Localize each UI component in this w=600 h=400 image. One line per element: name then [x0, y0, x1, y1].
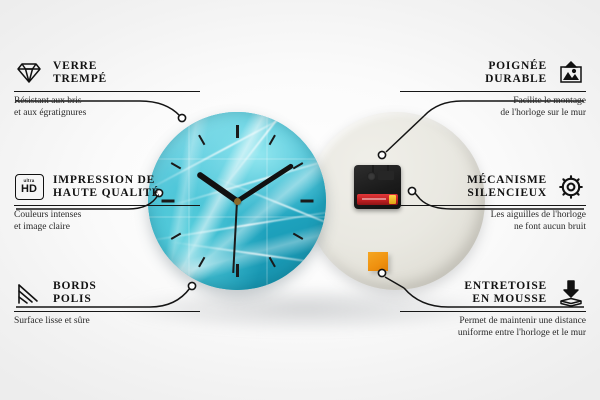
feature-rule	[14, 91, 200, 92]
feature-rule	[14, 311, 200, 312]
feature-entretoise-en-mousse: ENTRETOISE EN MOUSSE Permet de maintenir…	[400, 278, 586, 339]
feature-bords-polis: BORDS POLIS Surface lisse et sûre	[14, 278, 200, 328]
mechanism-spindle	[367, 172, 376, 181]
clock-center-hub	[234, 198, 241, 205]
feature-rule	[400, 311, 586, 312]
ultra-hd-icon: ultra HD	[14, 172, 44, 202]
feature-rule	[14, 205, 200, 206]
feature-title: VERRE TREMPÉ	[53, 60, 107, 87]
feature-title: IMPRESSION DE HAUTE QUALITÉ	[53, 174, 160, 201]
gear-icon	[556, 172, 586, 202]
diamond-icon	[14, 58, 44, 88]
picture-hanger-icon	[556, 58, 586, 88]
feature-description: Permet de maintenir une distance uniform…	[400, 316, 586, 339]
feature-title: MÉCANISME SILENCIEUX	[467, 174, 547, 201]
feature-rule	[400, 205, 586, 206]
feature-poignee-durable: POIGNÉE DURABLE Facilite le montage de l…	[400, 58, 586, 119]
feature-description: Surface lisse et sûre	[14, 316, 200, 328]
feature-description: Résistant aux bris et aux égratignures	[14, 96, 200, 119]
battery	[357, 194, 398, 205]
feature-mecanisme-silencieux: MÉCANISME SILENCIEUX Les aiguilles de l'…	[400, 172, 586, 233]
foam-spacer-arrow-icon	[556, 278, 586, 308]
infographic-canvas: VERRE TREMPÉ Résistant aux bris et aux é…	[0, 0, 600, 400]
feature-title: ENTRETOISE EN MOUSSE	[464, 280, 547, 307]
feature-description: Couleurs intenses et image claire	[14, 210, 200, 233]
feature-title: BORDS POLIS	[53, 280, 97, 307]
foam-spacer	[368, 252, 388, 271]
feature-impression-haute-qualite: ultra HD IMPRESSION DE HAUTE QUALITÉ Cou…	[14, 172, 200, 233]
feature-description: Les aiguilles de l'horloge ne font aucun…	[400, 210, 586, 233]
feature-rule	[400, 91, 586, 92]
feature-description: Facilite le montage de l'horloge sur le …	[400, 96, 586, 119]
polished-edges-icon	[14, 278, 44, 308]
feature-verre-trempe: VERRE TREMPÉ Résistant aux bris et aux é…	[14, 58, 200, 119]
mechanism-slot	[378, 171, 394, 180]
feature-title: POIGNÉE DURABLE	[485, 60, 547, 87]
quartz-mechanism	[354, 165, 401, 209]
